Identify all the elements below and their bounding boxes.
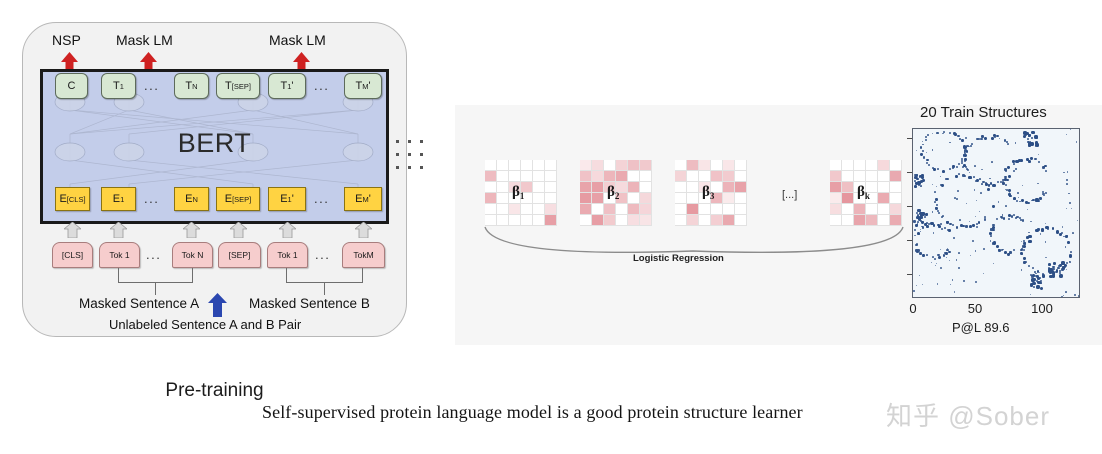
- contact-map-point: [920, 229, 921, 230]
- contact-map-point: [993, 241, 996, 244]
- contact-map-point: [1065, 291, 1067, 293]
- contact-map-plot-area: [912, 128, 1080, 298]
- matrix-cell: [640, 193, 652, 204]
- embedding-token-e1-prime: E1': [268, 187, 306, 211]
- beta-label-k: βk: [857, 184, 870, 201]
- blue-arrow-input-pair: [208, 293, 227, 317]
- matrix-cell: [616, 204, 628, 215]
- contact-map-point: [926, 254, 928, 256]
- figure-caption: Self-supervised protein language model i…: [262, 402, 803, 423]
- contact-map-point: [937, 283, 938, 284]
- contact-map-point: [1028, 235, 1031, 238]
- contact-map-point: [1033, 286, 1035, 288]
- contact-map-point: [1036, 285, 1040, 289]
- matrix-cell: [854, 204, 866, 215]
- contact-map-point: [1063, 172, 1065, 174]
- contact-map-point: [936, 132, 938, 134]
- input-token-sep: [SEP]: [218, 242, 261, 268]
- brace-a-left-stem: [118, 268, 119, 282]
- contact-map-point: [926, 162, 928, 164]
- embedding-token-en: EN: [174, 187, 209, 211]
- matrix-cell: [616, 171, 628, 182]
- brace-a-center-stem: [155, 282, 156, 295]
- contact-map-point: [1028, 232, 1030, 234]
- contact-map-point: [1008, 175, 1011, 178]
- contact-map-point: [943, 254, 946, 257]
- contact-map-point: [938, 212, 940, 214]
- contact-map-point: [932, 256, 934, 258]
- contact-map-point: [966, 168, 968, 170]
- output-token-tm-prime: TM': [344, 73, 382, 99]
- contact-map-point: [1028, 135, 1030, 137]
- contact-map-point: [1007, 253, 1010, 256]
- contact-map-point: [916, 150, 917, 151]
- contact-map-point: [961, 158, 963, 160]
- contact-map-point: [919, 252, 922, 255]
- contact-map-point: [979, 178, 981, 180]
- cmap-ytick-1: [907, 172, 912, 173]
- contact-map-point: [957, 190, 959, 192]
- output-token-tsep: T[SEP]: [216, 73, 260, 99]
- matrix-cell: [592, 182, 604, 193]
- contact-map-point: [1002, 179, 1004, 181]
- contact-map-point: [997, 181, 999, 183]
- matrix-cell: [521, 204, 533, 215]
- matrix-cell: [830, 171, 842, 182]
- contact-map-point: [935, 198, 938, 201]
- contact-map-point: [962, 166, 964, 168]
- contact-map-point: [1023, 135, 1026, 138]
- matrix-cell: [830, 204, 842, 215]
- matrix-cell: [580, 204, 592, 215]
- contact-map-point: [936, 186, 937, 187]
- matrix-cell: [497, 160, 509, 171]
- contact-map-point: [1032, 267, 1034, 269]
- matrix-cell: [723, 204, 735, 215]
- contact-map-point: [1023, 257, 1026, 260]
- contact-map-point: [992, 184, 995, 187]
- contact-map-point: [976, 226, 977, 227]
- contact-map-figure: 20 Train Structures 0 50 100 P@L 89.6: [890, 100, 1095, 340]
- contact-map-point: [1028, 240, 1031, 243]
- matrix-cell: [735, 182, 747, 193]
- matrix-cell: [545, 160, 557, 171]
- continuation-dots: [396, 140, 428, 178]
- matrix-cell: [545, 204, 557, 215]
- contact-map-point: [1021, 199, 1024, 202]
- contact-map-point: [975, 216, 976, 217]
- matrix-cell: [878, 182, 890, 193]
- contact-map-point: [947, 178, 949, 180]
- contact-map-point: [991, 161, 993, 163]
- brace-b-right-stem: [362, 268, 363, 282]
- matrix-cell: [497, 182, 509, 193]
- contact-map-point: [1079, 144, 1080, 145]
- contact-map-point: [1064, 264, 1068, 268]
- contact-map-point: [949, 168, 951, 170]
- matrix-cell: [711, 171, 723, 182]
- contact-map-point: [1021, 241, 1022, 242]
- matrix-cell: [854, 171, 866, 182]
- contact-map-point: [1013, 198, 1016, 201]
- contact-map-point: [937, 254, 939, 256]
- contact-map-point: [1018, 197, 1019, 198]
- contact-map-point: [1022, 185, 1024, 187]
- contact-map-point: [964, 175, 966, 177]
- contact-map-point: [1062, 226, 1063, 227]
- contact-map-point: [981, 169, 982, 170]
- contact-map-point: [952, 279, 954, 281]
- matrix-cell: [675, 204, 687, 215]
- beta-label-3: β3: [702, 184, 714, 201]
- contact-map-point: [1031, 275, 1033, 277]
- matrix-cell: [533, 160, 545, 171]
- contact-map-point: [949, 132, 951, 134]
- contact-map-point: [1037, 183, 1039, 185]
- input-ellipsis-right: ...: [315, 247, 330, 262]
- contact-map-point: [969, 221, 970, 222]
- input-token-tokn: Tok N: [172, 242, 213, 268]
- contact-map-point: [937, 168, 939, 170]
- contact-map-point: [972, 240, 974, 242]
- embedding-token-em-prime: EM': [344, 187, 382, 211]
- contact-map-point: [972, 224, 975, 227]
- matrix-cell: [735, 204, 747, 215]
- contact-map-point: [1013, 170, 1015, 172]
- contact-map-point: [964, 158, 967, 161]
- contact-map-point: [1042, 191, 1044, 193]
- matrix-cell: [628, 171, 640, 182]
- cmap-ytick-0: [907, 138, 912, 139]
- contact-map-point: [936, 204, 938, 206]
- matrix-cell: [604, 160, 616, 171]
- contact-map-point: [942, 215, 944, 217]
- contact-map-point: [940, 176, 942, 178]
- contact-map-point: [1035, 198, 1038, 201]
- matrix-cell: [485, 182, 497, 193]
- beta-label-2: β2: [607, 184, 619, 201]
- matrix-cell: [604, 171, 616, 182]
- contact-map-point: [974, 165, 976, 167]
- contact-map-point: [1040, 282, 1042, 284]
- contact-map-point: [914, 185, 917, 188]
- matrix-cell: [878, 193, 890, 204]
- contact-map-point: [1045, 170, 1047, 172]
- contact-map-point: [1068, 193, 1070, 195]
- contact-map-point: [976, 200, 977, 201]
- contact-map-point: [1028, 265, 1030, 267]
- contact-map-point: [937, 210, 939, 212]
- contact-map-point: [1043, 166, 1045, 168]
- contact-map-point: [914, 235, 915, 236]
- contact-map-point: [966, 203, 968, 205]
- cmap-ytick-2: [907, 206, 912, 207]
- output-ellipsis-right: ...: [314, 78, 329, 93]
- matrix-cell: [687, 160, 699, 171]
- contact-map-point: [990, 235, 992, 237]
- contact-map-metric-label: P@L 89.6: [952, 320, 1010, 335]
- contact-map-point: [917, 223, 919, 225]
- contact-map-point: [985, 182, 987, 184]
- matrix-cell: [485, 204, 497, 215]
- contact-map-point: [938, 256, 941, 259]
- contact-map-point: [956, 226, 959, 229]
- contact-map-point: [926, 152, 927, 153]
- matrix-cell: [699, 160, 711, 171]
- gray-arrow-4: [230, 222, 247, 238]
- contact-map-point: [1005, 205, 1007, 207]
- contact-map-point: [1021, 269, 1023, 271]
- contact-map-point: [970, 255, 971, 256]
- contact-map-point: [1061, 296, 1063, 298]
- contact-map-point: [998, 201, 999, 202]
- matrix-cell: [830, 160, 842, 171]
- matrix-cell: [521, 160, 533, 171]
- contact-map-point: [971, 143, 973, 145]
- contact-map-point: [1011, 215, 1013, 217]
- input-ellipsis-left: ...: [146, 247, 161, 262]
- contact-map-point: [1029, 144, 1031, 146]
- contact-map-point: [978, 221, 981, 224]
- output-token-t1-prime: T1': [268, 73, 306, 99]
- contact-map-point: [1020, 159, 1023, 162]
- contact-map-point: [1013, 214, 1015, 216]
- bert-encoder-box: BERT: [40, 69, 389, 224]
- contact-map-point: [964, 149, 966, 151]
- gray-arrow-6: [355, 222, 372, 238]
- contact-map-point: [988, 184, 990, 186]
- matrix-cell: [675, 182, 687, 193]
- contact-map-point: [992, 205, 995, 208]
- contact-map-point: [984, 218, 986, 220]
- matrix-cell: [592, 160, 604, 171]
- contact-map-point: [934, 258, 936, 260]
- contact-map-point: [1007, 166, 1010, 169]
- contact-map-point: [1039, 272, 1040, 273]
- contact-map-point: [948, 251, 951, 254]
- contact-map-point: [932, 184, 933, 185]
- contact-map-point: [956, 198, 958, 200]
- contact-map-point: [1037, 277, 1040, 280]
- contact-map-point: [941, 228, 943, 230]
- contact-map-point: [925, 139, 927, 141]
- contact-map-point: [1017, 192, 1019, 194]
- pretraining-caption: Pre-training: [22, 380, 407, 402]
- contact-map-point: [984, 137, 987, 140]
- matrix-cell: [545, 182, 557, 193]
- contact-map-point: [981, 183, 983, 185]
- contact-map-point: [1031, 200, 1033, 202]
- contact-map-point: [1074, 294, 1076, 296]
- contact-map-point: [1055, 271, 1057, 273]
- contact-map-point: [958, 163, 960, 165]
- head-label-mask-lm-left: Mask LM: [116, 32, 173, 48]
- contact-map-point: [913, 220, 915, 222]
- contact-map-point: [922, 150, 925, 153]
- contact-map-point: [933, 224, 936, 227]
- contact-map-point: [955, 175, 958, 178]
- contact-map-point: [1022, 219, 1024, 221]
- contact-map-point: [977, 138, 979, 140]
- contact-map-point: [1032, 131, 1035, 134]
- contact-map-point: [1030, 221, 1031, 222]
- contact-map-point: [969, 225, 972, 228]
- contact-map-point: [960, 224, 963, 227]
- gray-arrow-3: [183, 222, 200, 238]
- beta-series-ellipsis: [...]: [782, 189, 797, 201]
- contact-map-point: [932, 133, 933, 134]
- contact-map-point: [963, 154, 965, 156]
- contact-map-point: [1015, 142, 1017, 144]
- contact-map-point: [1066, 208, 1067, 209]
- contact-map-point: [942, 133, 943, 134]
- contact-map-point: [1066, 269, 1067, 270]
- matrix-cell: [723, 193, 735, 204]
- beta-label-1: β1: [512, 184, 524, 201]
- matrix-cell: [640, 182, 652, 193]
- matrix-cell: [640, 204, 652, 215]
- contact-map-point: [924, 216, 926, 218]
- input-token-tok1-b: Tok 1: [267, 242, 308, 268]
- contact-map-point: [953, 237, 955, 239]
- contact-map-point: [940, 267, 941, 268]
- embedding-ellipsis-right: ...: [314, 191, 329, 206]
- matrix-cell: [830, 182, 842, 193]
- contact-map-point: [954, 197, 956, 199]
- contact-map-point: [940, 223, 942, 225]
- contact-map-point: [932, 167, 934, 169]
- matrix-cell: [675, 193, 687, 204]
- contact-map-point: [956, 166, 958, 168]
- contact-map-point: [993, 263, 994, 264]
- contact-map-point: [1069, 254, 1072, 257]
- contact-map-point: [1034, 158, 1036, 160]
- contact-map-point: [1070, 129, 1071, 130]
- contact-map-point: [989, 178, 991, 180]
- contact-map-point: [1071, 208, 1072, 209]
- contact-map-point: [1004, 168, 1006, 170]
- contact-map-point: [1052, 268, 1054, 270]
- contact-map-point: [992, 224, 994, 226]
- matrix-cell: [735, 171, 747, 182]
- contact-map-point: [931, 262, 932, 263]
- contact-map-point: [944, 227, 946, 229]
- brace-b-center-stem: [324, 282, 325, 295]
- matrix-cell: [878, 171, 890, 182]
- contact-map-point: [945, 252, 948, 255]
- contact-map-point: [1045, 223, 1046, 224]
- matrix-cell: [485, 171, 497, 182]
- matrix-cell: [866, 204, 878, 215]
- contact-map-point: [958, 267, 960, 269]
- contact-map-point: [1009, 196, 1010, 197]
- contact-map-point: [965, 137, 967, 139]
- contact-map-point: [975, 250, 976, 251]
- contact-map-point: [936, 263, 937, 264]
- contact-map-point: [990, 240, 992, 242]
- contact-map-point: [941, 184, 944, 187]
- matrix-cell: [723, 171, 735, 182]
- contact-map-point: [915, 249, 917, 251]
- matrix-cell: [592, 171, 604, 182]
- contact-map-point: [1043, 195, 1045, 197]
- contact-map-point: [1041, 228, 1044, 231]
- contact-map-point: [996, 135, 999, 138]
- input-token-tokm: TokM: [342, 242, 385, 268]
- contact-map-point: [922, 254, 925, 257]
- contact-map-point: [1053, 262, 1056, 265]
- matrix-cell: [628, 204, 640, 215]
- matrix-cell: [580, 193, 592, 204]
- masked-sentence-a-label: Masked Sentence A: [79, 296, 199, 311]
- brace-a-right-stem: [192, 268, 193, 282]
- matrix-cell: [521, 171, 533, 182]
- matrix-cell: [533, 193, 545, 204]
- matrix-cell: [545, 193, 557, 204]
- contact-map-point: [1031, 137, 1034, 140]
- matrix-cell: [675, 160, 687, 171]
- contact-map-point: [1038, 161, 1040, 163]
- contact-map-point: [920, 231, 922, 233]
- contact-map-point: [1027, 138, 1029, 140]
- contact-map-point: [1016, 200, 1018, 202]
- contact-map-point: [1037, 228, 1040, 231]
- contact-map-point: [1076, 141, 1077, 142]
- contact-map-point: [1066, 179, 1068, 181]
- contact-map-point: [999, 138, 1000, 139]
- contact-map-title: 20 Train Structures: [920, 104, 1047, 121]
- matrix-cell: [580, 171, 592, 182]
- contact-map-point: [1045, 257, 1046, 258]
- contact-map-point: [934, 191, 936, 193]
- contact-map-point: [1072, 232, 1074, 234]
- watermark: 知乎 @Sober: [886, 396, 1050, 433]
- matrix-cell: [580, 182, 592, 193]
- matrix-cell: [580, 160, 592, 171]
- matrix-cell: [842, 182, 854, 193]
- contact-map-point: [1070, 251, 1072, 253]
- contact-map-point: [998, 249, 1001, 252]
- cmap-ytick-4: [907, 274, 912, 275]
- bert-model-name: BERT: [43, 128, 386, 159]
- contact-map-point: [927, 134, 929, 136]
- matrix-cell: [878, 160, 890, 171]
- matrix-cell: [687, 193, 699, 204]
- matrix-cell: [640, 171, 652, 182]
- contact-map-point: [989, 232, 992, 235]
- output-token-c: C: [55, 73, 88, 99]
- cmap-xtick-label-50: 50: [964, 301, 986, 316]
- matrix-cell: [533, 171, 545, 182]
- contact-map-point: [975, 281, 977, 283]
- contact-map-point: [1077, 220, 1078, 221]
- matrix-cell: [711, 160, 723, 171]
- contact-map-point: [1004, 176, 1007, 179]
- contact-map-point: [1065, 246, 1067, 248]
- contact-map-point: [923, 156, 925, 158]
- matrix-cell: [687, 182, 699, 193]
- matrix-cell: [533, 204, 545, 215]
- contact-map-point: [1007, 143, 1009, 145]
- contact-map-point: [1066, 134, 1068, 136]
- contact-map-point: [956, 259, 958, 261]
- contact-map-point: [1059, 274, 1063, 278]
- contact-map-point: [932, 211, 934, 213]
- matrix-cell: [830, 193, 842, 204]
- contact-map-point: [954, 291, 955, 292]
- matrix-cell: [866, 160, 878, 171]
- contact-map-point: [1020, 252, 1023, 255]
